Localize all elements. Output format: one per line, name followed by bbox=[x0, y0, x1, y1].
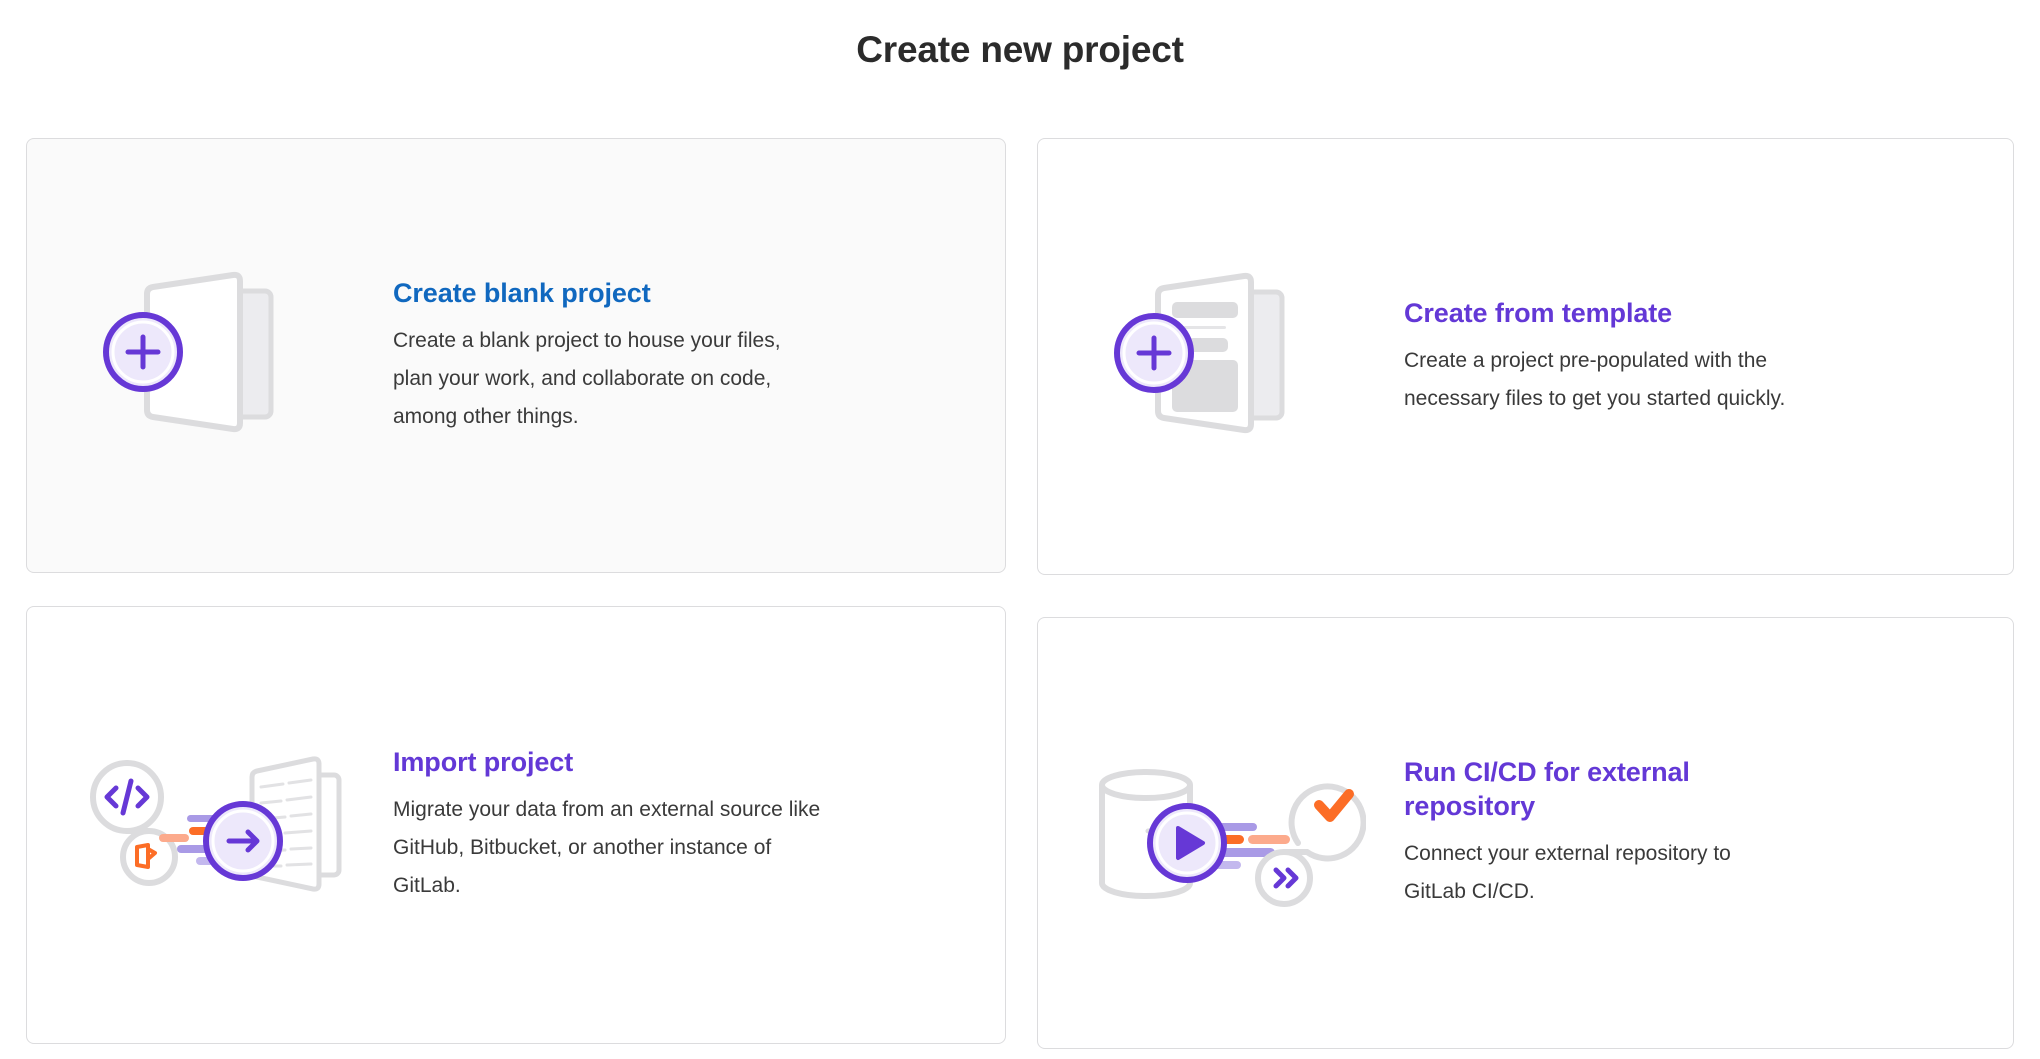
card-body: Create from template Create a project pr… bbox=[1404, 296, 1834, 418]
card-import-project[interactable]: Import project Migrate your data from an… bbox=[26, 606, 1006, 1044]
create-new-project-page: Create new project bbox=[0, 0, 2040, 1059]
project-type-card-grid: Create blank project Create a blank proj… bbox=[26, 138, 2014, 1049]
page-title: Create new project bbox=[0, 28, 2040, 72]
card-description: Create a blank project to house your fil… bbox=[393, 322, 823, 436]
card-body: Run CI/CD for external repository Connec… bbox=[1404, 755, 1834, 911]
card-row-1: Create blank project Create a blank proj… bbox=[26, 138, 2014, 575]
blank-project-icon bbox=[95, 261, 325, 451]
card-create-from-template[interactable]: Create from template Create a project pr… bbox=[1037, 138, 2014, 575]
template-project-icon bbox=[1106, 262, 1336, 452]
card-title[interactable]: Create from template bbox=[1404, 296, 1794, 330]
import-project-illustration bbox=[27, 735, 393, 915]
card-body: Create blank project Create a blank proj… bbox=[393, 276, 863, 436]
card-row-2: Import project Migrate your data from an… bbox=[26, 606, 2014, 1049]
card-title[interactable]: Create blank project bbox=[393, 276, 823, 310]
card-title[interactable]: Run CI/CD for external repository bbox=[1404, 755, 1794, 823]
import-project-icon bbox=[65, 735, 355, 915]
card-description: Create a project pre-populated with the … bbox=[1404, 342, 1794, 418]
blank-project-illustration bbox=[27, 261, 393, 451]
card-description: Migrate your data from an external sourc… bbox=[393, 791, 823, 905]
cicd-external-repo-illustration bbox=[1038, 743, 1404, 923]
card-description: Connect your external repository to GitL… bbox=[1404, 835, 1794, 911]
template-project-illustration bbox=[1038, 262, 1404, 452]
card-title[interactable]: Import project bbox=[393, 745, 823, 779]
cicd-external-repo-icon bbox=[1076, 743, 1366, 923]
card-body: Import project Migrate your data from an… bbox=[393, 745, 863, 905]
card-create-blank-project[interactable]: Create blank project Create a blank proj… bbox=[26, 138, 1006, 573]
card-run-cicd-external-repository[interactable]: Run CI/CD for external repository Connec… bbox=[1037, 617, 2014, 1049]
